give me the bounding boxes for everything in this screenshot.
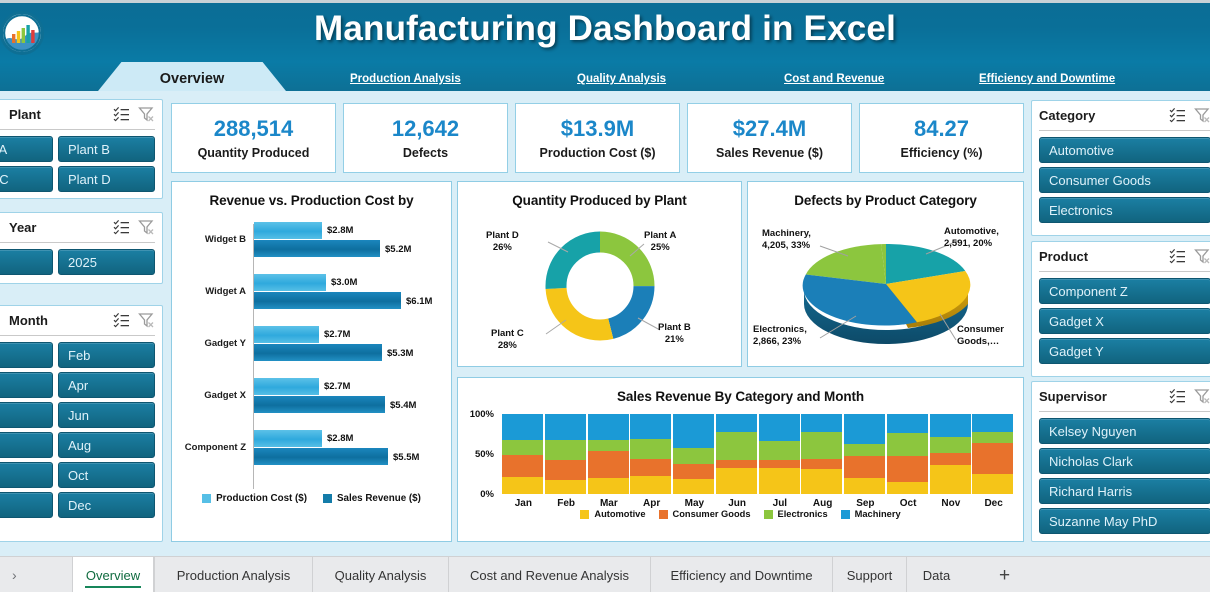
- kpi-card-sales-revenue: $27.4M Sales Revenue ($): [687, 103, 852, 173]
- slicer-item-apr[interactable]: Apr: [58, 372, 155, 398]
- slicer-supervisor[interactable]: Supervisor Kelsey NguyenNicholas ClarkRi…: [1031, 381, 1210, 542]
- pie-label-automotive: Automotive, 2,591, 20%: [944, 226, 999, 249]
- pie-label-name: Plant A: [644, 230, 676, 241]
- y-axis-tick-label: 50%: [475, 449, 494, 460]
- slicer-header: Category: [1039, 101, 1210, 131]
- x-axis-tick-label: Jan: [502, 498, 545, 509]
- legend-item-sales-revenue: Sales Revenue ($): [323, 493, 421, 504]
- stack-segment-electronics: [502, 440, 543, 454]
- slicer-category[interactable]: Category AutomotiveConsumer GoodsElectro…: [1031, 100, 1210, 236]
- doughnut-chart-plot: Plant A 25% Plant B 21% Plant C 28% Plan…: [458, 208, 741, 358]
- pie-label-name: Plant B: [658, 322, 691, 333]
- x-axis-tick-label: Aug: [801, 498, 844, 509]
- nav-link-efficiency-and-downtime[interactable]: Efficiency and Downtime: [979, 73, 1115, 85]
- slicer-items-month: Jan Feb Mar Apr May Jun Jul Aug Sep Oct …: [0, 336, 162, 525]
- pie-3d-chart-plot: Automotive, 2,591, 20% Machinery, 4,205,…: [748, 208, 1023, 358]
- slicer-icon-group: [1169, 107, 1210, 123]
- slicer-items-plant: Plant A Plant B Plant C Plant D: [0, 130, 162, 199]
- slicer-item-kelsey-nguyen[interactable]: Kelsey Nguyen: [1039, 418, 1210, 444]
- slicer-item-aug[interactable]: Aug: [58, 432, 155, 458]
- pie-label-line1: Electronics,: [753, 324, 807, 335]
- stacked-column: [716, 414, 757, 494]
- slicer-item-2024[interactable]: 2024: [0, 249, 53, 275]
- bar-value-label-revenue: $5.5M: [393, 452, 419, 463]
- stack-segment-machinery: [887, 414, 928, 433]
- stacked-column: [844, 414, 885, 494]
- pie-label-line1: Consumer: [957, 324, 1004, 335]
- stacked-column: [630, 414, 671, 494]
- legend-label: Automotive: [594, 509, 645, 519]
- chart-sales-revenue-by-category-and-month[interactable]: Sales Revenue By Category and Month 100%…: [457, 377, 1024, 542]
- slicer-title-month: Month: [9, 313, 48, 328]
- stack-segment-electronics: [673, 448, 714, 464]
- slicer-item-2025[interactable]: 2025: [58, 249, 155, 275]
- slicer-header: Month: [0, 306, 155, 336]
- pie-label-plant-b: Plant B 21%: [658, 322, 691, 345]
- clear-filter-icon[interactable]: [138, 219, 155, 235]
- legend-item-electronics: Electronics: [764, 509, 828, 519]
- stack-segment-machinery: [930, 414, 971, 437]
- bar-production-cost: [254, 222, 322, 239]
- bar-category-label: Component Z: [178, 442, 246, 453]
- bar-sales-revenue: [254, 240, 380, 257]
- stack-segment-machinery: [972, 414, 1013, 432]
- bar-group: Component Z $2.8M $5.5M: [172, 426, 451, 478]
- nav-tab-overview[interactable]: Overview: [94, 62, 290, 96]
- stack-segment-consumer-goods: [930, 453, 971, 465]
- stack-segment-automotive: [588, 478, 629, 494]
- stack-segment-electronics: [759, 441, 800, 459]
- clear-filter-icon[interactable]: [138, 312, 155, 328]
- bar-sales-revenue: [254, 344, 382, 361]
- bar-sales-revenue: [254, 292, 401, 309]
- stack-segment-machinery: [502, 414, 543, 440]
- bar-category-label: Gadget Y: [178, 338, 246, 349]
- chart-legend: AutomotiveConsumer GoodsElectronicsMachi…: [458, 509, 1023, 519]
- sheet-tab-production-analysis[interactable]: Production Analysis: [154, 557, 312, 592]
- slicer-year[interactable]: Year: [0, 212, 163, 284]
- chart-title: Defects by Product Category: [748, 182, 1023, 208]
- bar-group: Widget A $3.0M $6.1M: [172, 270, 451, 322]
- legend-label: Sales Revenue ($): [337, 493, 421, 504]
- pie-label-plant-a: Plant A 25%: [644, 230, 676, 253]
- kpi-card-production-cost: $13.9M Production Cost ($): [515, 103, 680, 173]
- y-axis-tick-label: 0%: [480, 489, 494, 500]
- legend-label: Electronics: [778, 509, 828, 519]
- stack-segment-automotive: [801, 469, 842, 494]
- legend-label: Machinery: [855, 509, 901, 519]
- x-axis-tick-label: Dec: [972, 498, 1015, 509]
- pie-label-line2: 2,591, 20%: [944, 238, 992, 249]
- sheet-tab-cost-and-revenue-analysis[interactable]: Cost and Revenue Analysis: [448, 557, 650, 592]
- stack-segment-electronics: [844, 444, 885, 457]
- x-axis-tick-label: Sep: [844, 498, 887, 509]
- chevron-right-icon[interactable]: ›: [12, 567, 17, 583]
- x-axis-tick-label: Apr: [630, 498, 673, 509]
- pie-label-plant-d: Plant D 26%: [486, 230, 519, 253]
- x-axis-tick-label: Oct: [887, 498, 930, 509]
- x-axis-tick-label: Jun: [716, 498, 759, 509]
- kpi-card-defects: 12,642 Defects: [343, 103, 508, 173]
- slicer-items-category: AutomotiveConsumer GoodsElectronics: [1032, 131, 1210, 230]
- stack-segment-machinery: [545, 414, 586, 440]
- multi-select-icon[interactable]: [1169, 248, 1186, 264]
- y-axis-tick-label: 100%: [470, 409, 494, 420]
- pie-label-name: Plant D: [486, 230, 519, 241]
- stack-segment-machinery: [630, 414, 671, 439]
- pie-label-line1: Machinery,: [762, 228, 811, 239]
- kpi-label: Sales Revenue ($): [716, 146, 823, 160]
- slicer-title-plant: Plant: [9, 107, 41, 122]
- bar-value-label-cost: $2.7M: [324, 329, 350, 340]
- bar-category-label: Widget A: [178, 286, 246, 297]
- stack-segment-consumer-goods: [844, 456, 885, 478]
- stack-segment-machinery: [759, 414, 800, 441]
- stack-segment-electronics: [716, 432, 757, 459]
- slicer-item-plant-a[interactable]: Plant A: [0, 136, 53, 162]
- legend-item-production-cost: Production Cost ($): [202, 493, 307, 504]
- x-axis-tick-label: Feb: [545, 498, 588, 509]
- slicer-item-jun[interactable]: Jun: [58, 402, 155, 428]
- dashboard-nav: Overview Production Analysis Quality Ana…: [0, 62, 1210, 96]
- chart-defects-by-product-category[interactable]: Defects by Product Category: [747, 181, 1024, 367]
- chart-title: Sales Revenue By Category and Month: [458, 378, 1023, 404]
- bar-value-label-cost: $2.8M: [327, 225, 353, 236]
- kpi-value: $13.9M: [561, 116, 634, 141]
- stack-segment-machinery: [716, 414, 757, 432]
- bar-sales-revenue: [254, 396, 385, 413]
- pie-label-value: 26%: [493, 242, 512, 253]
- chart-revenue-vs-production-cost[interactable]: Revenue vs. Production Cost by Widget B …: [171, 181, 452, 542]
- kpi-value: $27.4M: [733, 116, 806, 141]
- slicer-plant[interactable]: Plant: [0, 99, 163, 199]
- stacked-column-plot: 100%50%0%JanFebMarAprMayJunJulAugSepOctN…: [458, 410, 1023, 515]
- pie-label-consumer-goods: Consumer Goods,…: [957, 324, 1004, 347]
- page-title: Manufacturing Dashboard in Excel: [0, 9, 1210, 49]
- stack-segment-automotive: [502, 477, 543, 494]
- kpi-card-quantity-produced: 288,514 Quantity Produced: [171, 103, 336, 173]
- slicer-title-supervisor: Supervisor: [1039, 389, 1107, 404]
- legend-swatch-icon: [841, 510, 850, 519]
- bar-sales-revenue: [254, 448, 388, 465]
- bar-production-cost: [254, 430, 322, 447]
- kpi-label: Production Cost ($): [540, 146, 656, 160]
- stack-segment-consumer-goods: [588, 451, 629, 478]
- stack-segment-electronics: [887, 433, 928, 456]
- chart-legend: Production Cost ($) Sales Revenue ($): [172, 493, 451, 504]
- slicer-title-year: Year: [9, 220, 36, 235]
- stack-segment-consumer-goods: [716, 460, 757, 468]
- sheet-tab-quality-analysis[interactable]: Quality Analysis: [312, 557, 448, 592]
- bar-chart-plot: Widget B $2.8M $5.2M Widget A $3.0M $6.1…: [172, 212, 451, 512]
- stack-segment-consumer-goods: [801, 459, 842, 469]
- legend-swatch-icon: [580, 510, 589, 519]
- pie-label-line2: 2,866, 23%: [753, 336, 801, 347]
- x-axis-tick-label: Nov: [930, 498, 973, 509]
- stack-segment-automotive: [759, 468, 800, 494]
- pie-label-line2: Goods,…: [957, 336, 999, 347]
- sheet-tab-data[interactable]: Data: [906, 557, 966, 592]
- stacked-column: [759, 414, 800, 494]
- slicer-icon-group: [113, 219, 155, 235]
- bar-production-cost: [254, 274, 326, 291]
- stack-segment-machinery: [844, 414, 885, 444]
- slicer-item-gadget-y[interactable]: Gadget Y: [1039, 338, 1210, 364]
- legend-item-machinery: Machinery: [841, 509, 901, 519]
- slicer-item-plant-d[interactable]: Plant D: [58, 166, 155, 192]
- legend-swatch-icon: [323, 494, 332, 503]
- slicer-item-feb[interactable]: Feb: [58, 342, 155, 368]
- legend-label: Production Cost ($): [216, 493, 307, 504]
- legend-item-consumer-goods: Consumer Goods: [659, 509, 751, 519]
- legend-item-automotive: Automotive: [580, 509, 645, 519]
- stack-segment-automotive: [972, 474, 1013, 494]
- bar-production-cost: [254, 378, 319, 395]
- legend-swatch-icon: [659, 510, 668, 519]
- bar-value-label-revenue: $6.1M: [406, 296, 432, 307]
- x-axis-tick-label: May: [673, 498, 716, 509]
- slicer-item-nicholas-clark[interactable]: Nicholas Clark: [1039, 448, 1210, 474]
- stack-segment-automotive: [630, 476, 671, 494]
- slicer-item-consumer-goods[interactable]: Consumer Goods: [1039, 167, 1210, 193]
- bar-value-label-revenue: $5.4M: [390, 400, 416, 411]
- stacked-column: [588, 414, 629, 494]
- slicer-item-jul[interactable]: Jul: [0, 432, 53, 458]
- stack-segment-consumer-goods: [972, 443, 1013, 474]
- nav-link-quality-analysis[interactable]: Quality Analysis: [577, 73, 666, 85]
- pie-label-plant-c: Plant C 28%: [491, 328, 524, 351]
- chart-title: Quantity Produced by Plant: [458, 182, 741, 208]
- stack-segment-machinery: [588, 414, 629, 440]
- pie-label-line2: 4,205, 33%: [762, 240, 810, 251]
- stacked-column: [673, 414, 714, 494]
- stack-segment-consumer-goods: [502, 455, 543, 477]
- slicer-item-electronics[interactable]: Electronics: [1039, 197, 1210, 223]
- bar-value-label-cost: $2.7M: [324, 381, 350, 392]
- slicer-icon-group: [113, 312, 155, 328]
- stacked-column: [502, 414, 543, 494]
- slicer-header: Product: [1039, 242, 1210, 272]
- kpi-value: 84.27: [914, 116, 969, 141]
- slicer-title-category: Category: [1039, 108, 1095, 123]
- bar-category-label: Widget B: [178, 234, 246, 245]
- slicer-product[interactable]: Product Component ZGadget XGadget Y: [1031, 241, 1210, 377]
- plus-icon[interactable]: +: [999, 565, 1010, 587]
- slicer-item-component-z[interactable]: Component Z: [1039, 278, 1210, 304]
- multi-select-icon[interactable]: [113, 106, 130, 122]
- pie-label-name: Plant C: [491, 328, 524, 339]
- bar-group: Gadget Y $2.7M $5.3M: [172, 322, 451, 374]
- slicer-item-suzanne-may-phd[interactable]: Suzanne May PhD: [1039, 508, 1210, 534]
- legend-swatch-icon: [202, 494, 211, 503]
- slicer-icon-group: [1169, 388, 1210, 404]
- slicer-item-dec[interactable]: Dec: [58, 492, 155, 518]
- x-axis-tick-label: Mar: [588, 498, 631, 509]
- slicer-item-automotive[interactable]: Automotive: [1039, 137, 1210, 163]
- stack-segment-automotive: [844, 478, 885, 494]
- slicer-item-nov[interactable]: Nov: [0, 492, 53, 518]
- stack-segment-automotive: [545, 480, 586, 494]
- nav-link-cost-and-revenue[interactable]: Cost and Revenue: [784, 73, 884, 85]
- stack-segment-consumer-goods: [759, 460, 800, 469]
- slicer-item-gadget-x[interactable]: Gadget X: [1039, 308, 1210, 334]
- slicer-icon-group: [1169, 248, 1210, 264]
- nav-link-production-analysis[interactable]: Production Analysis: [350, 73, 461, 85]
- pie-label-machinery: Machinery, 4,205, 33%: [762, 228, 811, 251]
- slicer-header: Year: [0, 213, 155, 243]
- pie-label-electronics: Electronics, 2,866, 23%: [753, 324, 807, 347]
- stack-segment-consumer-goods: [630, 459, 671, 477]
- kpi-label: Quantity Produced: [198, 146, 310, 160]
- slicer-title-product: Product: [1039, 249, 1088, 264]
- dashboard-header: Manufacturing Dashboard in Excel: [0, 0, 1210, 62]
- clear-filter-icon[interactable]: [1194, 107, 1210, 123]
- stack-segment-electronics: [930, 437, 971, 453]
- multi-select-icon[interactable]: [1169, 107, 1186, 123]
- clear-filter-icon[interactable]: [1194, 388, 1210, 404]
- slicer-item-richard-harris[interactable]: Richard Harris: [1039, 478, 1210, 504]
- slicer-item-mar[interactable]: Mar: [0, 372, 53, 398]
- sheet-tab-overview[interactable]: Overview: [72, 557, 154, 592]
- stack-segment-electronics: [630, 439, 671, 459]
- pie-label-value: 21%: [665, 334, 684, 345]
- bar-value-label-cost: $2.8M: [327, 433, 353, 444]
- x-axis-tick-label: Jul: [759, 498, 802, 509]
- stack-segment-electronics: [972, 432, 1013, 442]
- sheet-tab-support[interactable]: Support: [832, 557, 906, 592]
- clear-filter-icon[interactable]: [138, 106, 155, 122]
- slicer-icon-group: [113, 106, 155, 122]
- stack-segment-consumer-goods: [887, 456, 928, 482]
- stacked-column: [801, 414, 842, 494]
- slicer-item-may[interactable]: May: [0, 402, 53, 428]
- kpi-label: Defects: [403, 146, 448, 160]
- kpi-card-efficiency: 84.27 Efficiency (%): [859, 103, 1024, 173]
- kpi-label: Efficiency (%): [901, 146, 983, 160]
- kpi-value: 288,514: [214, 116, 294, 141]
- chart-quantity-produced-by-plant[interactable]: Quantity Produced by Plant Plant A 25%: [457, 181, 742, 367]
- bar-value-label-cost: $3.0M: [331, 277, 357, 288]
- stack-segment-electronics: [545, 440, 586, 460]
- slicer-items-supervisor: Kelsey NguyenNicholas ClarkRichard Harri…: [1032, 412, 1210, 541]
- multi-select-icon[interactable]: [113, 219, 130, 235]
- stack-segment-consumer-goods: [673, 464, 714, 478]
- bar-group: Widget B $2.8M $5.2M: [172, 218, 451, 270]
- clear-filter-icon[interactable]: [1194, 248, 1210, 264]
- slicer-header: Supervisor: [1039, 382, 1210, 412]
- stack-segment-automotive: [887, 482, 928, 494]
- chart-title: Revenue vs. Production Cost by: [172, 182, 451, 208]
- slicer-item-jan[interactable]: Jan: [0, 342, 53, 368]
- sheet-tab-efficiency-and-downtime[interactable]: Efficiency and Downtime: [650, 557, 832, 592]
- stack-segment-automotive: [716, 468, 757, 494]
- slicer-month[interactable]: Month: [0, 305, 163, 542]
- sheet-tab-bar: › Overview Production Analysis Quality A…: [0, 556, 1210, 592]
- slicer-item-plant-c[interactable]: Plant C: [0, 166, 53, 192]
- pie-label-line1: Automotive,: [944, 226, 999, 237]
- slicer-items-product: Component ZGadget XGadget Y: [1032, 272, 1210, 371]
- multi-select-icon[interactable]: [113, 312, 130, 328]
- stacked-column: [972, 414, 1013, 494]
- stack-segment-automotive: [673, 479, 714, 494]
- stacked-column: [545, 414, 586, 494]
- legend-swatch-icon: [764, 510, 773, 519]
- pie-label-value: 28%: [498, 340, 517, 351]
- stack-segment-automotive: [930, 465, 971, 494]
- multi-select-icon[interactable]: [1169, 388, 1186, 404]
- stack-segment-machinery: [801, 414, 842, 432]
- excel-dashboard-window: Manufacturing Dashboard in Excel Overvie…: [0, 0, 1210, 592]
- slicer-item-sep[interactable]: Sep: [0, 462, 53, 488]
- stack-segment-machinery: [673, 414, 714, 448]
- slicer-item-plant-b[interactable]: Plant B: [58, 136, 155, 162]
- stack-segment-consumer-goods: [545, 460, 586, 480]
- kpi-value: 12,642: [392, 116, 459, 141]
- bar-value-label-revenue: $5.2M: [385, 244, 411, 255]
- bar-group: Gadget X $2.7M $5.4M: [172, 374, 451, 426]
- stack-segment-electronics: [588, 440, 629, 451]
- stacked-column: [930, 414, 971, 494]
- bar-value-label-revenue: $5.3M: [387, 348, 413, 359]
- legend-label: Consumer Goods: [673, 509, 751, 519]
- bar-category-label: Gadget X: [178, 390, 246, 401]
- stacked-column: [887, 414, 928, 494]
- stack-segment-electronics: [801, 432, 842, 458]
- slicer-header: Plant: [0, 100, 155, 130]
- pie-label-value: 25%: [651, 242, 670, 253]
- slicer-items-year: 2024 2025: [0, 243, 162, 282]
- slicer-item-oct[interactable]: Oct: [58, 462, 155, 488]
- bar-production-cost: [254, 326, 319, 343]
